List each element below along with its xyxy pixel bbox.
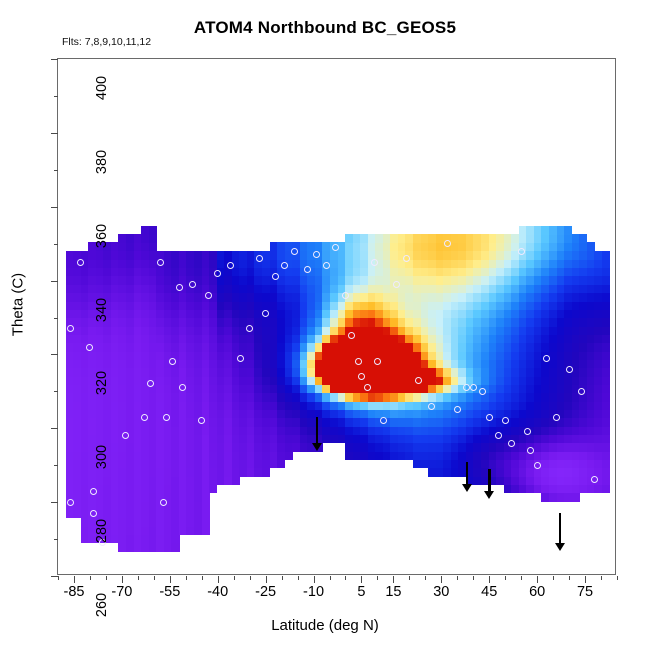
- x-tick-mark: [170, 576, 171, 583]
- x-tick-mark: [553, 576, 554, 580]
- x-tick-label: -25: [255, 584, 276, 600]
- sample-marker: [122, 432, 129, 439]
- heatmap-cell: [209, 484, 217, 493]
- sample-marker: [157, 259, 164, 266]
- descent-arrow: [554, 513, 566, 551]
- sample-marker: [77, 259, 84, 266]
- heatmap-cell: [602, 259, 610, 268]
- y-tick-mark: [51, 133, 58, 134]
- x-tick-label: -55: [159, 584, 180, 600]
- x-tick-mark: [617, 576, 618, 580]
- y-tick-mark: [51, 428, 58, 429]
- x-tick-mark: [409, 576, 410, 580]
- sample-marker: [141, 414, 148, 421]
- arrow-head: [555, 543, 565, 551]
- x-tick-mark: [202, 576, 203, 580]
- y-tick-mark: [54, 244, 58, 245]
- heatmap-cell: [602, 251, 610, 260]
- x-tick-mark: [377, 576, 378, 580]
- heatmap-cell: [202, 493, 210, 502]
- x-tick-mark: [58, 576, 59, 580]
- heatmap-cell: [171, 543, 179, 552]
- heatmap-cell: [602, 276, 610, 285]
- sample-marker: [67, 499, 74, 506]
- y-axis-label: Theta (C): [10, 235, 27, 375]
- sample-marker: [358, 373, 365, 380]
- x-tick-mark: [585, 576, 586, 583]
- x-tick-label: 75: [577, 584, 593, 600]
- x-tick-label: -10: [303, 584, 324, 600]
- x-tick-mark: [90, 576, 91, 580]
- x-tick-mark: [473, 576, 474, 580]
- y-tick-mark: [51, 354, 58, 355]
- heatmap-cell: [602, 326, 610, 335]
- heatmap-cell: [602, 409, 610, 418]
- annotation-flights: Flts: 7,8,9,10,11,12: [62, 36, 151, 48]
- heatmap-cell: [602, 426, 610, 435]
- heatmap-cell: [602, 484, 610, 493]
- x-tick-label: -40: [207, 584, 228, 600]
- sample-marker: [518, 248, 525, 255]
- x-tick-mark: [74, 576, 75, 583]
- heatmap-cell: [202, 526, 210, 535]
- x-tick-mark: [186, 576, 187, 580]
- sample-marker: [86, 344, 93, 351]
- sample-marker: [393, 281, 400, 288]
- x-tick-mark: [138, 576, 139, 580]
- heatmap-cell: [602, 384, 610, 393]
- heatmap-cell: [202, 501, 210, 510]
- y-tick-label: 400: [94, 58, 110, 118]
- heatmap-cell: [602, 434, 610, 443]
- sample-marker: [189, 281, 196, 288]
- descent-arrow: [483, 469, 495, 499]
- x-tick-mark: [361, 576, 362, 583]
- x-tick-mark: [345, 576, 346, 580]
- x-tick-mark: [393, 576, 394, 583]
- x-tick-mark: [154, 576, 155, 580]
- heatmap-cell: [602, 267, 610, 276]
- heatmap-cell: [602, 343, 610, 352]
- sample-marker: [566, 366, 573, 373]
- x-tick-mark: [122, 576, 123, 583]
- x-tick-mark: [314, 576, 315, 583]
- sample-marker: [553, 414, 560, 421]
- x-tick-mark: [234, 576, 235, 580]
- x-tick-label: -70: [111, 584, 132, 600]
- sample-marker: [237, 355, 244, 362]
- page-title: ATOM4 Northbound BC_GEOS5: [0, 18, 650, 38]
- y-tick-mark: [54, 465, 58, 466]
- x-tick-mark: [106, 576, 107, 580]
- y-tick-mark: [54, 170, 58, 171]
- sample-marker: [90, 488, 97, 495]
- arrow-head: [312, 443, 322, 451]
- y-tick-label: 380: [94, 132, 110, 192]
- arrow-shaft: [488, 469, 490, 491]
- x-tick-label: 60: [529, 584, 545, 600]
- sample-marker: [428, 403, 435, 410]
- x-tick-mark: [250, 576, 251, 580]
- x-tick-mark: [569, 576, 570, 580]
- x-tick-mark: [457, 576, 458, 580]
- x-tick-label: 15: [385, 584, 401, 600]
- heatmap-cell: [149, 234, 157, 243]
- x-tick-mark: [298, 576, 299, 580]
- x-tick-mark: [330, 576, 331, 580]
- heatmap-cell: [602, 309, 610, 318]
- heatmap-cell: [202, 509, 210, 518]
- y-tick-label: 280: [94, 501, 110, 561]
- x-tick-mark: [266, 576, 267, 583]
- y-tick-mark: [54, 539, 58, 540]
- y-tick-mark: [51, 502, 58, 503]
- x-tick-mark: [537, 576, 538, 583]
- heatmap-cell: [202, 518, 210, 527]
- sample-marker: [486, 414, 493, 421]
- x-tick-mark: [601, 576, 602, 580]
- x-tick-label: -85: [63, 584, 84, 600]
- heatmap-cell: [602, 284, 610, 293]
- y-tick-label: 300: [94, 427, 110, 487]
- x-tick-mark: [441, 576, 442, 583]
- sample-marker: [508, 440, 515, 447]
- x-tick-mark: [218, 576, 219, 583]
- heatmap-cell: [171, 534, 179, 543]
- x-tick-mark: [425, 576, 426, 580]
- x-tick-mark: [282, 576, 283, 580]
- sample-marker: [342, 292, 349, 299]
- heatmap-cell: [262, 468, 270, 477]
- y-tick-label: 340: [94, 280, 110, 340]
- heatmap-cell: [602, 368, 610, 377]
- chart-root: ATOM4 Northbound BC_GEOS5 Flts: 7,8,9,10…: [0, 0, 650, 650]
- heatmap-cell: [602, 393, 610, 402]
- x-axis-label: Latitude (deg N): [0, 617, 650, 634]
- descent-arrow: [461, 462, 473, 492]
- y-tick-mark: [51, 207, 58, 208]
- arrow-shaft: [559, 513, 561, 543]
- heatmap-cell: [602, 468, 610, 477]
- heatmap-cell: [149, 226, 157, 235]
- arrow-head: [484, 491, 494, 499]
- x-tick-label: 30: [433, 584, 449, 600]
- heatmap-cell: [572, 493, 580, 502]
- arrow-shaft: [466, 462, 468, 484]
- y-tick-mark: [54, 391, 58, 392]
- heatmap-cell: [602, 376, 610, 385]
- heatmap-cell: [602, 459, 610, 468]
- y-tick-label: 320: [94, 353, 110, 413]
- y-tick-mark: [51, 281, 58, 282]
- x-tick-mark: [521, 576, 522, 580]
- heatmap-canvas: [58, 59, 615, 574]
- plot-area: 260280300320340360380400-85-70-55-40-25-…: [57, 58, 616, 575]
- heatmap-cell: [602, 318, 610, 327]
- sample-marker: [214, 270, 221, 277]
- y-tick-label: 360: [94, 206, 110, 266]
- descent-arrow: [311, 417, 323, 451]
- sample-marker: [403, 255, 410, 262]
- heatmap-cell: [232, 476, 240, 485]
- heatmap-cell: [602, 443, 610, 452]
- sample-marker: [470, 384, 477, 391]
- x-tick-mark: [505, 576, 506, 580]
- y-tick-mark: [54, 318, 58, 319]
- heatmap-cell: [602, 451, 610, 460]
- y-tick-mark: [51, 576, 58, 577]
- x-tick-mark: [489, 576, 490, 583]
- heatmap-cell: [602, 334, 610, 343]
- heatmap-cell: [602, 418, 610, 427]
- heatmap-cell: [602, 401, 610, 410]
- heatmap-cell: [602, 359, 610, 368]
- heatmap-cell: [602, 292, 610, 301]
- sample-marker: [205, 292, 212, 299]
- sample-marker: [371, 259, 378, 266]
- y-tick-mark: [51, 59, 58, 60]
- heatmap-cell: [602, 301, 610, 310]
- x-tick-label: 5: [357, 584, 365, 600]
- heatmap-cell: [277, 459, 285, 468]
- heatmap-cell: [602, 476, 610, 485]
- sample-marker: [160, 499, 167, 506]
- sample-marker: [543, 355, 550, 362]
- sample-marker: [291, 248, 298, 255]
- sample-marker: [304, 266, 311, 273]
- sample-marker: [163, 414, 170, 421]
- sample-marker: [534, 462, 541, 469]
- y-tick-mark: [54, 96, 58, 97]
- arrow-head: [462, 484, 472, 492]
- sample-marker: [256, 255, 263, 262]
- heatmap-cell: [285, 451, 293, 460]
- heatmap-cell: [602, 351, 610, 360]
- x-tick-label: 45: [481, 584, 497, 600]
- arrow-shaft: [316, 417, 318, 443]
